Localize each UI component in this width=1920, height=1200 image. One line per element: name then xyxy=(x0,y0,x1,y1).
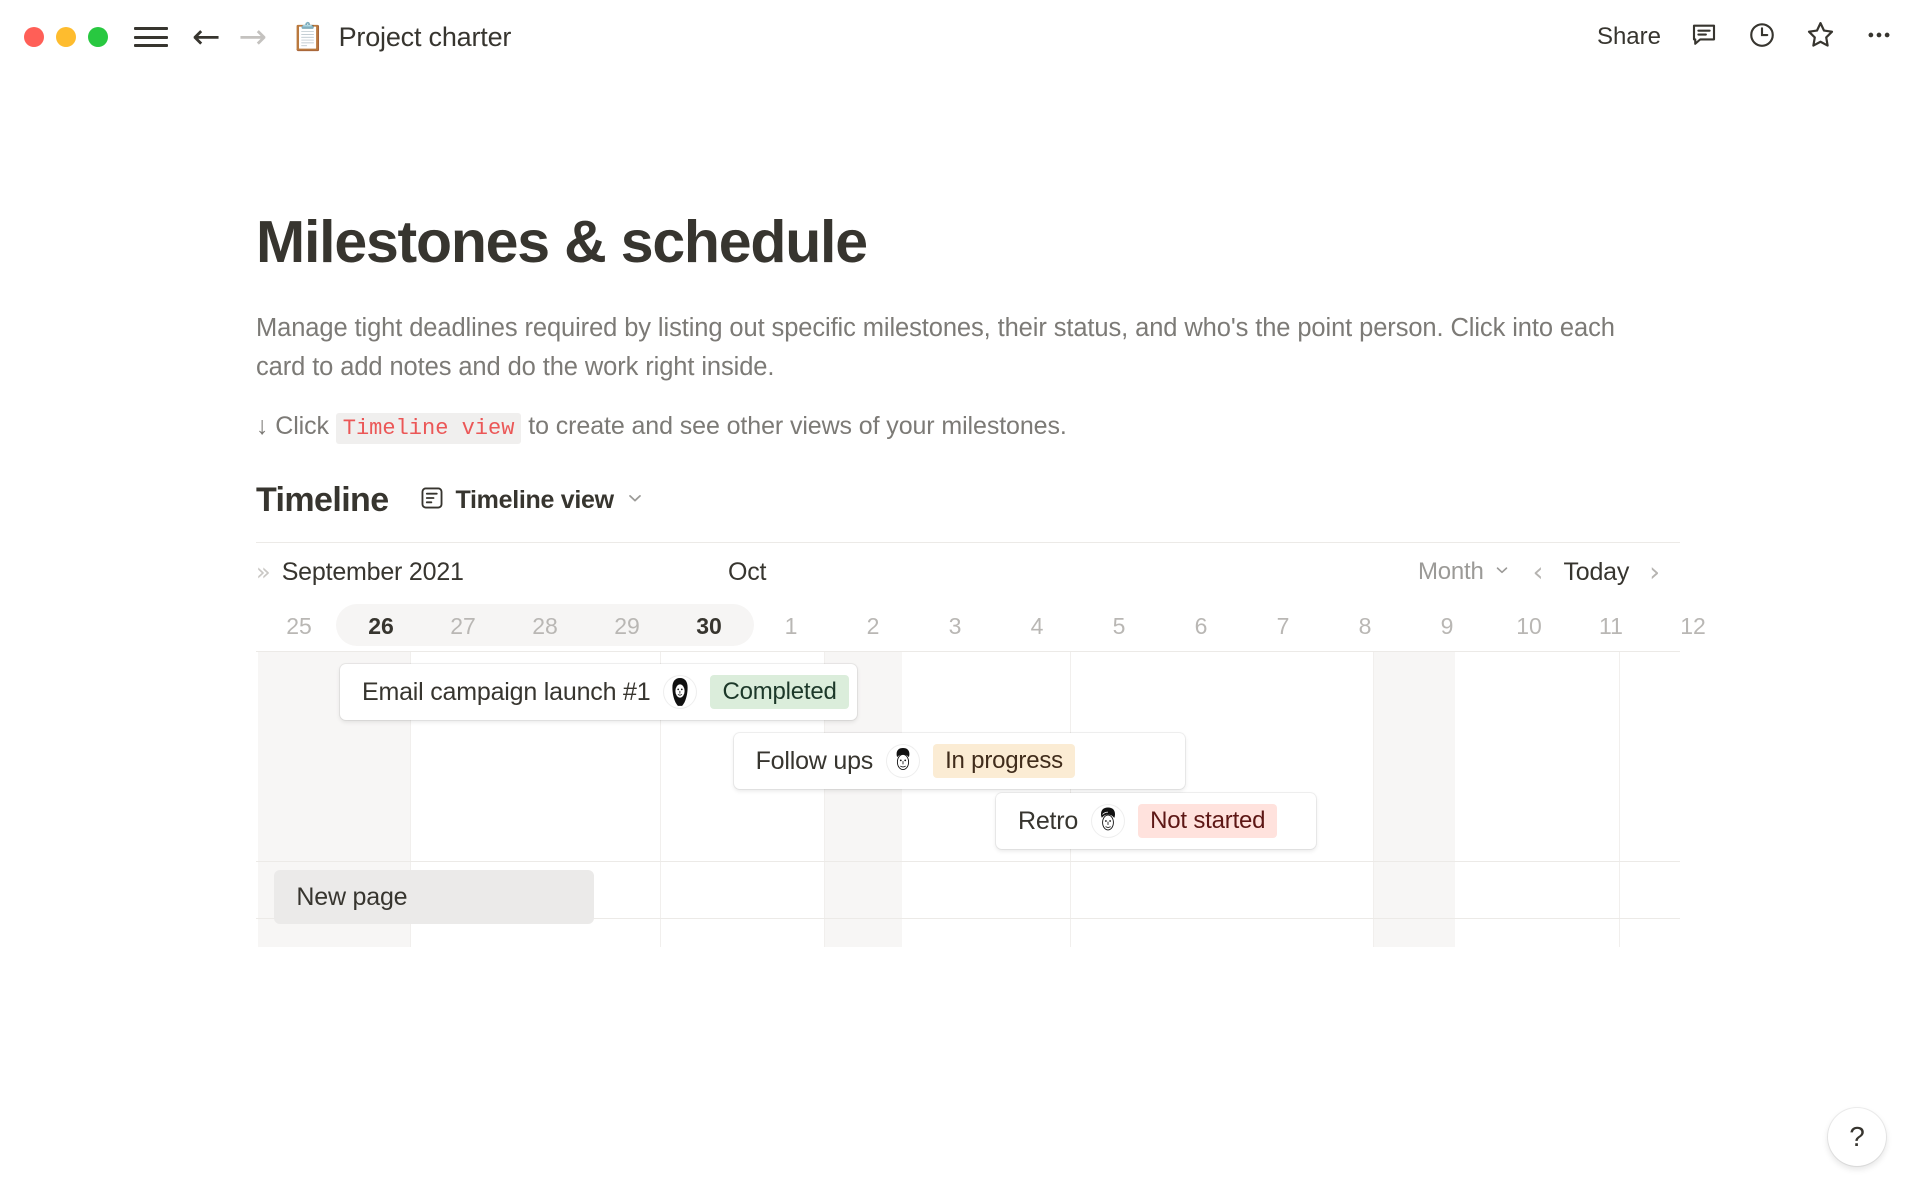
minimize-button[interactable] xyxy=(56,27,76,47)
back-arrow-icon[interactable]: ← xyxy=(192,20,221,54)
page-description: Manage tight deadlines required by listi… xyxy=(256,309,1621,387)
share-button[interactable]: Share xyxy=(1597,23,1661,51)
breadcrumb[interactable]: Project charter xyxy=(339,22,512,53)
avatar-man-dark-hair xyxy=(1092,805,1124,837)
timeline-card[interactable]: Follow upsIn progress xyxy=(734,733,1185,789)
collapse-chevrons-icon[interactable]: » xyxy=(256,558,268,586)
card-title: Retro xyxy=(1018,807,1078,836)
new-page-button[interactable]: New page xyxy=(274,870,594,924)
sidebar-toggle-icon[interactable] xyxy=(134,24,168,50)
scale-label: Month xyxy=(1418,558,1484,586)
titlebar-actions: Share xyxy=(1597,0,1894,74)
weekend-shade xyxy=(1373,652,1455,947)
current-month-label: September 2021 xyxy=(282,558,464,587)
avatar-woman-dark-hair xyxy=(664,676,696,708)
day-header-cell[interactable]: 9 xyxy=(1406,601,1488,651)
page-hint: ↓ Click Timeline view to create and see … xyxy=(256,412,1880,441)
help-button[interactable]: ? xyxy=(1828,1108,1886,1166)
star-icon[interactable] xyxy=(1805,19,1836,55)
day-header-cell[interactable]: 29 xyxy=(586,601,668,651)
grid-column-divider xyxy=(1619,652,1620,947)
card-title: Email campaign launch #1 xyxy=(362,678,650,707)
more-icon[interactable] xyxy=(1864,20,1894,55)
history-icon[interactable] xyxy=(1747,20,1777,55)
day-header-cell[interactable]: 12 xyxy=(1652,601,1734,651)
status-badge: Not started xyxy=(1138,804,1277,838)
hint-code-chip: Timeline view xyxy=(336,413,522,444)
card-title: Follow ups xyxy=(756,747,874,776)
page-content: Milestones & schedule Manage tight deadl… xyxy=(0,210,1920,947)
day-header-cell[interactable]: 30 xyxy=(668,601,750,651)
grid-column-divider xyxy=(1373,652,1374,947)
scale-selector[interactable]: Month xyxy=(1410,556,1519,588)
next-period-button[interactable]: › xyxy=(1635,559,1674,586)
tab-timeline-view[interactable]: Timeline view xyxy=(415,483,649,518)
page-title: Milestones & schedule xyxy=(256,210,1880,275)
chevron-down-icon xyxy=(1493,558,1511,586)
traffic-lights xyxy=(24,27,108,47)
timeline-days-header: 252627282930123456789101112 xyxy=(256,601,1680,651)
day-header-cell[interactable]: 8 xyxy=(1324,601,1406,651)
timeline-card[interactable]: Email campaign launch #1Completed xyxy=(340,664,857,720)
timeline-grid[interactable]: Email campaign launch #1CompletedFollow … xyxy=(256,651,1680,947)
status-badge: Completed xyxy=(710,675,848,709)
day-header-cell[interactable]: 11 xyxy=(1570,601,1652,651)
prev-period-button[interactable]: ‹ xyxy=(1519,559,1558,586)
avatar-man-short-hair xyxy=(887,745,919,777)
timeline-nav-controls: Month ‹ Today › xyxy=(1410,556,1674,588)
database-title[interactable]: Timeline xyxy=(256,481,389,520)
next-month-label: Oct xyxy=(728,558,766,587)
day-header-cell[interactable]: 6 xyxy=(1160,601,1242,651)
day-header-cell[interactable]: 2 xyxy=(832,601,914,651)
day-header-cell[interactable]: 26 xyxy=(340,601,422,651)
day-header-cell[interactable]: 28 xyxy=(504,601,586,651)
status-badge: In progress xyxy=(933,744,1075,778)
clipboard-icon: 📋 xyxy=(291,24,325,51)
timeline-container: » September 2021 Oct Month ‹ Today › 252… xyxy=(256,542,1680,947)
timeline-card[interactable]: RetroNot started xyxy=(996,793,1316,849)
day-header-cell[interactable]: 4 xyxy=(996,601,1078,651)
day-header-cell[interactable]: 27 xyxy=(422,601,504,651)
day-header-cell[interactable]: 3 xyxy=(914,601,996,651)
timeline-block-header: Timeline Timeline view xyxy=(256,481,1880,520)
hint-suffix: to create and see other views of your mi… xyxy=(528,412,1066,440)
maximize-button[interactable] xyxy=(88,27,108,47)
grid-row-divider xyxy=(256,861,1680,862)
forward-arrow-icon[interactable]: → xyxy=(239,20,268,54)
close-button[interactable] xyxy=(24,27,44,47)
day-header-cell[interactable]: 10 xyxy=(1488,601,1570,651)
day-header-cell[interactable]: 5 xyxy=(1078,601,1160,651)
day-header-cell[interactable]: 25 xyxy=(258,601,340,651)
timeline-view-label: Timeline view xyxy=(456,486,614,515)
window-titlebar: ← → 📋 Project charter Share xyxy=(0,0,1920,74)
chevron-down-icon xyxy=(625,488,645,513)
hint-prefix: ↓ Click xyxy=(256,412,329,440)
today-button[interactable]: Today xyxy=(1557,558,1635,587)
timeline-view-icon xyxy=(419,485,445,516)
day-header-cell[interactable]: 7 xyxy=(1242,601,1324,651)
comment-icon[interactable] xyxy=(1689,20,1719,55)
timeline-toolbar: » September 2021 Oct Month ‹ Today › xyxy=(256,543,1680,601)
day-header-cell[interactable]: 1 xyxy=(750,601,832,651)
